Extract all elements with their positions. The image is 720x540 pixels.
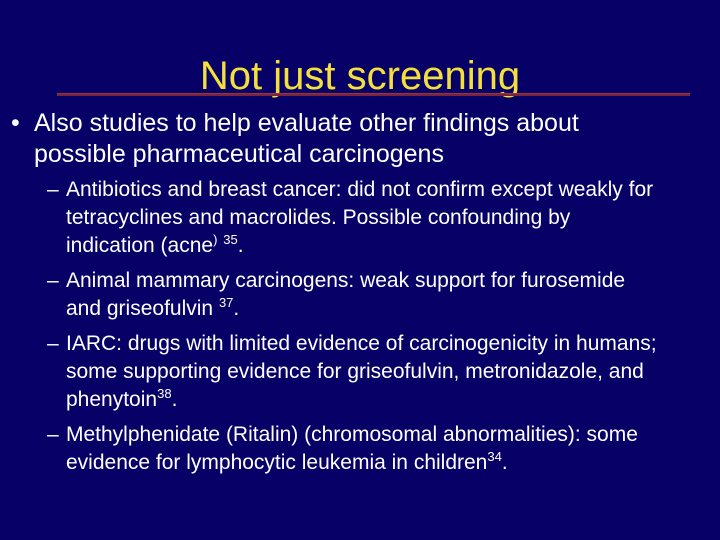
bullet-level2-iarc: – IARC: drugs with limited evidence of c… xyxy=(0,330,720,414)
bullet-level1-text: Also studies to help evaluate other find… xyxy=(34,108,660,170)
bullet-dash-icon: – xyxy=(47,267,59,295)
bullet-level2-text: Antibiotics and breast cancer: did not c… xyxy=(66,176,658,260)
sub-bullet-list: – Antibiotics and breast cancer: did not… xyxy=(0,176,720,477)
bullet-dash-icon: – xyxy=(47,176,59,204)
bullet-text-tail: . xyxy=(502,451,508,474)
page-title: Not just screening xyxy=(200,53,520,99)
bullet-text-main: Antibiotics and breast cancer: did not c… xyxy=(66,178,653,257)
bullet-dash-icon: – xyxy=(47,330,59,358)
bullet-text-tail: . xyxy=(172,388,178,411)
bullet-level2-methylphenidate: – Methylphenidate (Ritalin) (chromosomal… xyxy=(0,421,720,477)
slide-body: • Also studies to help evaluate other fi… xyxy=(0,108,720,484)
presentation-slide: Not just screening • Also studies to hel… xyxy=(0,0,720,540)
bullet-level2-text: Animal mammary carcinogens: weak support… xyxy=(66,267,658,323)
reference-number: 34 xyxy=(487,449,501,464)
bullet-text-tail: . xyxy=(238,234,244,257)
reference-number: 38 xyxy=(157,386,171,401)
bullet-level2-antibiotics: – Antibiotics and breast cancer: did not… xyxy=(0,176,720,260)
title-divider-rule xyxy=(57,93,690,96)
bullet-text-main: IARC: drugs with limited evidence of car… xyxy=(66,332,657,411)
bullet-level2-text: IARC: drugs with limited evidence of car… xyxy=(66,330,658,414)
bullet-text-tail: . xyxy=(233,297,239,320)
bullet-text-main: Animal mammary carcinogens: weak support… xyxy=(66,269,625,320)
bullet-level1: • Also studies to help evaluate other fi… xyxy=(0,108,720,170)
bullet-dash-icon: – xyxy=(47,421,59,449)
reference-number: 37 xyxy=(219,295,233,310)
bullet-level2-animal-carcinogens: – Animal mammary carcinogens: weak suppo… xyxy=(0,267,720,323)
bullet-text-main: Methylphenidate (Ritalin) (chromosomal a… xyxy=(66,423,638,474)
reference-number: 35 xyxy=(223,232,237,247)
bullet-dot-icon: • xyxy=(11,108,20,139)
bullet-level2-text: Methylphenidate (Ritalin) (chromosomal a… xyxy=(66,421,658,477)
